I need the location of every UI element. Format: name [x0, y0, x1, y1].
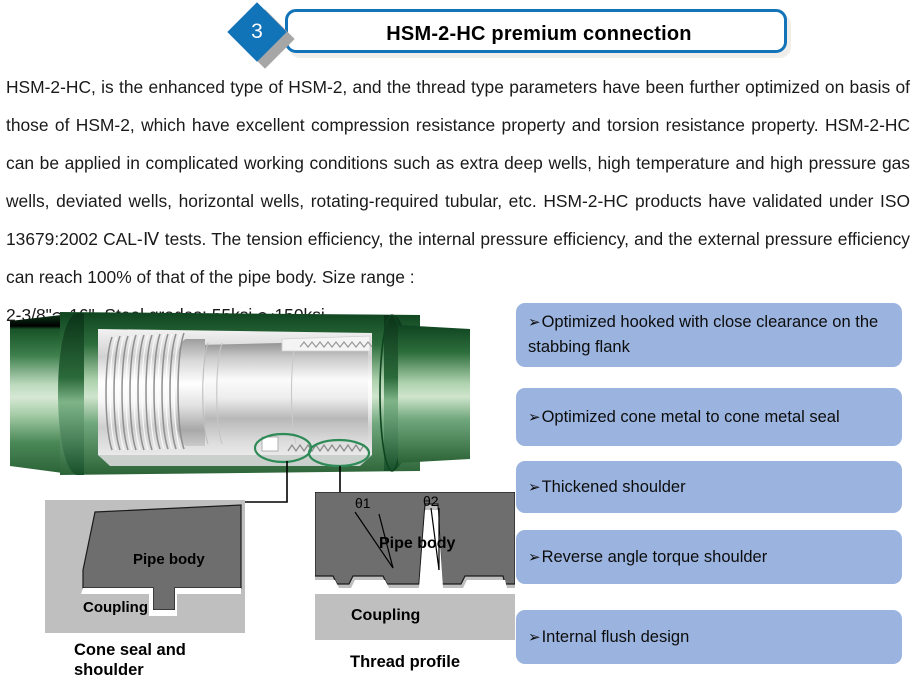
- bullet-arrow-icon: ➢: [528, 475, 541, 500]
- bullet-box-4[interactable]: ➢Internal flush design: [516, 610, 902, 664]
- pipe-coupling-illustration: [0, 303, 500, 498]
- pipe-right-run: [398, 325, 470, 463]
- slide-canvas: HSM-2-HC premium connection 3 HSM-2-HC, …: [0, 0, 916, 692]
- coupling-bottom-chamfer: [98, 455, 372, 466]
- detail1-label-coupling: Coupling: [83, 599, 148, 616]
- bullet-text-2: Thickened shoulder: [542, 478, 686, 496]
- detail2-label-coupling: Coupling: [351, 607, 420, 624]
- diamond-badge-number: 3: [236, 11, 278, 53]
- bullet-text-1: Optimized cone metal to cone metal seal: [542, 408, 840, 426]
- title-bar: HSM-2-HC premium connection: [285, 9, 787, 53]
- bullet-text-3: Reverse angle torque shoulder: [542, 548, 768, 566]
- body-paragraph-text: HSM-2-HC, is the enhanced type of HSM-2,…: [6, 77, 910, 287]
- bullet-box-1[interactable]: ➢Optimized cone metal to cone metal seal: [516, 388, 902, 446]
- detail2-label-pipe-body: Pipe body: [379, 535, 456, 552]
- bullet-text-0: Optimized hooked with close clearance on…: [528, 313, 878, 356]
- bullet-arrow-icon: ➢: [528, 545, 541, 570]
- bullet-box-0[interactable]: ➢Optimized hooked with close clearance o…: [516, 303, 902, 367]
- bullet-box-2[interactable]: ➢Thickened shoulder: [516, 461, 902, 513]
- pipe-bore-surface: [198, 341, 368, 443]
- upper-thread-strip: [282, 336, 370, 351]
- page-title: HSM-2-HC premium connection: [288, 12, 790, 56]
- detail-thread-profile-diagram: θ1 θ2 Pipe body Coupling: [315, 492, 515, 640]
- bullet-arrow-icon: ➢: [528, 625, 541, 650]
- detail2-angle2-label: θ2: [423, 493, 439, 509]
- slide-title-block: HSM-2-HC premium connection 3: [228, 6, 788, 58]
- body-paragraph: HSM-2-HC, is the enhanced type of HSM-2,…: [6, 68, 910, 334]
- detail2-angle1-label: θ1: [355, 495, 371, 511]
- bullet-box-3[interactable]: ➢Reverse angle torque shoulder: [516, 530, 902, 584]
- bullet-arrow-icon: ➢: [528, 310, 541, 335]
- bullet-text-4: Internal flush design: [542, 628, 690, 646]
- detail-cone-seal-diagram: Pipe body Coupling: [45, 500, 245, 633]
- detail1-label-pipe-body: Pipe body: [133, 551, 205, 568]
- detail-cone-seal-caption: Cone seal and shoulder: [74, 640, 244, 680]
- cone-seal-shoulder-feature: [262, 437, 278, 451]
- bullet-arrow-icon: ➢: [528, 405, 541, 430]
